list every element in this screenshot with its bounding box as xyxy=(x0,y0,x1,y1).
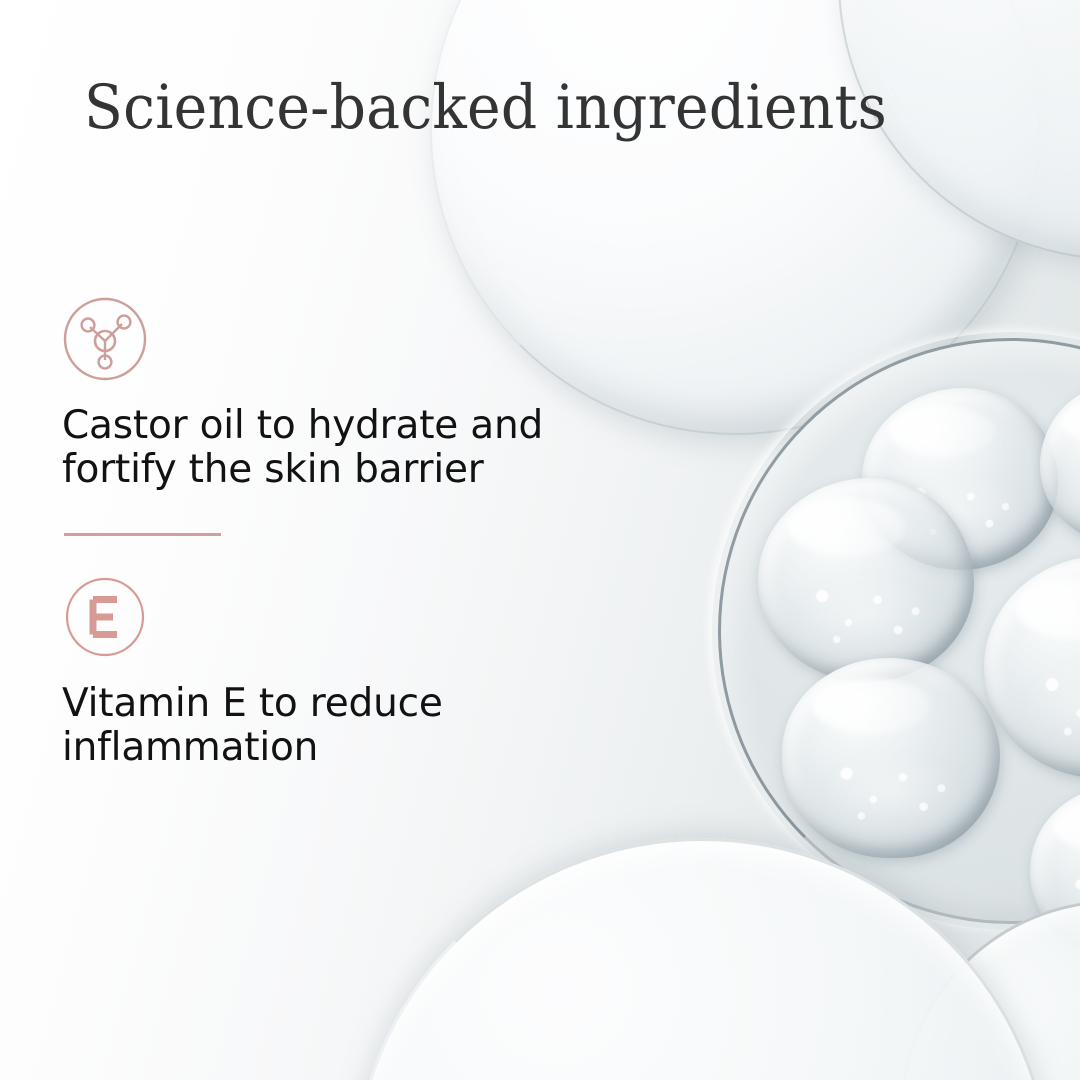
molecule-icon xyxy=(62,296,148,382)
feature-list: Castor oil to hydrate and fortify the sk… xyxy=(62,296,662,771)
feature-text: Vitamin E to reduce inflammation xyxy=(62,682,637,771)
vitamin-e-icon xyxy=(62,574,148,660)
feature-divider xyxy=(64,533,221,536)
feature-item-castor-oil: Castor oil to hydrate and fortify the sk… xyxy=(62,296,662,493)
page-title: Science-backed ingredients xyxy=(84,76,887,139)
feature-text: Castor oil to hydrate and fortify the sk… xyxy=(62,404,637,493)
content-layer: Science-backed ingredients Castor oil to… xyxy=(0,0,1080,1080)
feature-item-vitamin-e: Vitamin E to reduce inflammation xyxy=(62,574,662,771)
product-ingredients-graphic: Science-backed ingredients Castor oil to… xyxy=(0,0,1080,1080)
